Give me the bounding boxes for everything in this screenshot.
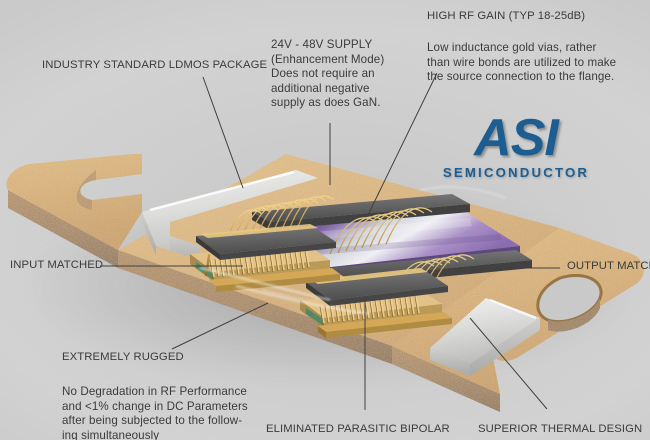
diagram-canvas: ASI SEMICONDUCTOR INDUSTRY STANDARD LDMO…	[0, 0, 650, 440]
callout-ldmos-package: INDUSTRY STANDARD LDMOS PACKAGE	[42, 60, 267, 72]
callout-rugged-detail: No Degradation in RF Performance and <1%…	[62, 385, 248, 440]
asi-logo: ASI SEMICONDUCTOR	[441, 112, 591, 186]
callout-high-rf-gain: HIGH RF GAIN (TYP 18-25dB)	[427, 11, 585, 23]
logo-tagline: SEMICONDUCTOR	[441, 165, 591, 180]
ldmos-package-illustration	[0, 150, 650, 415]
callout-superior-thermal-design: SUPERIOR THERMAL DESIGN	[478, 424, 642, 436]
logo-wordmark: ASI	[441, 112, 591, 164]
callout-supply: 24V - 48V SUPPLY (Enhancement Mode) Does…	[271, 38, 384, 111]
callout-extremely-rugged: EXTREMELY RUGGED	[62, 352, 184, 364]
callout-eliminated-parasitic-bipolar: ELIMINATED PARASITIC BIPOLAR	[266, 424, 450, 436]
callout-gold-vias: Low inductance gold vias, rather than wi…	[427, 41, 616, 85]
callout-output-matched: OUTPUT MATCHED	[567, 261, 650, 273]
callout-input-matched: INPUT MATCHED	[10, 260, 103, 272]
